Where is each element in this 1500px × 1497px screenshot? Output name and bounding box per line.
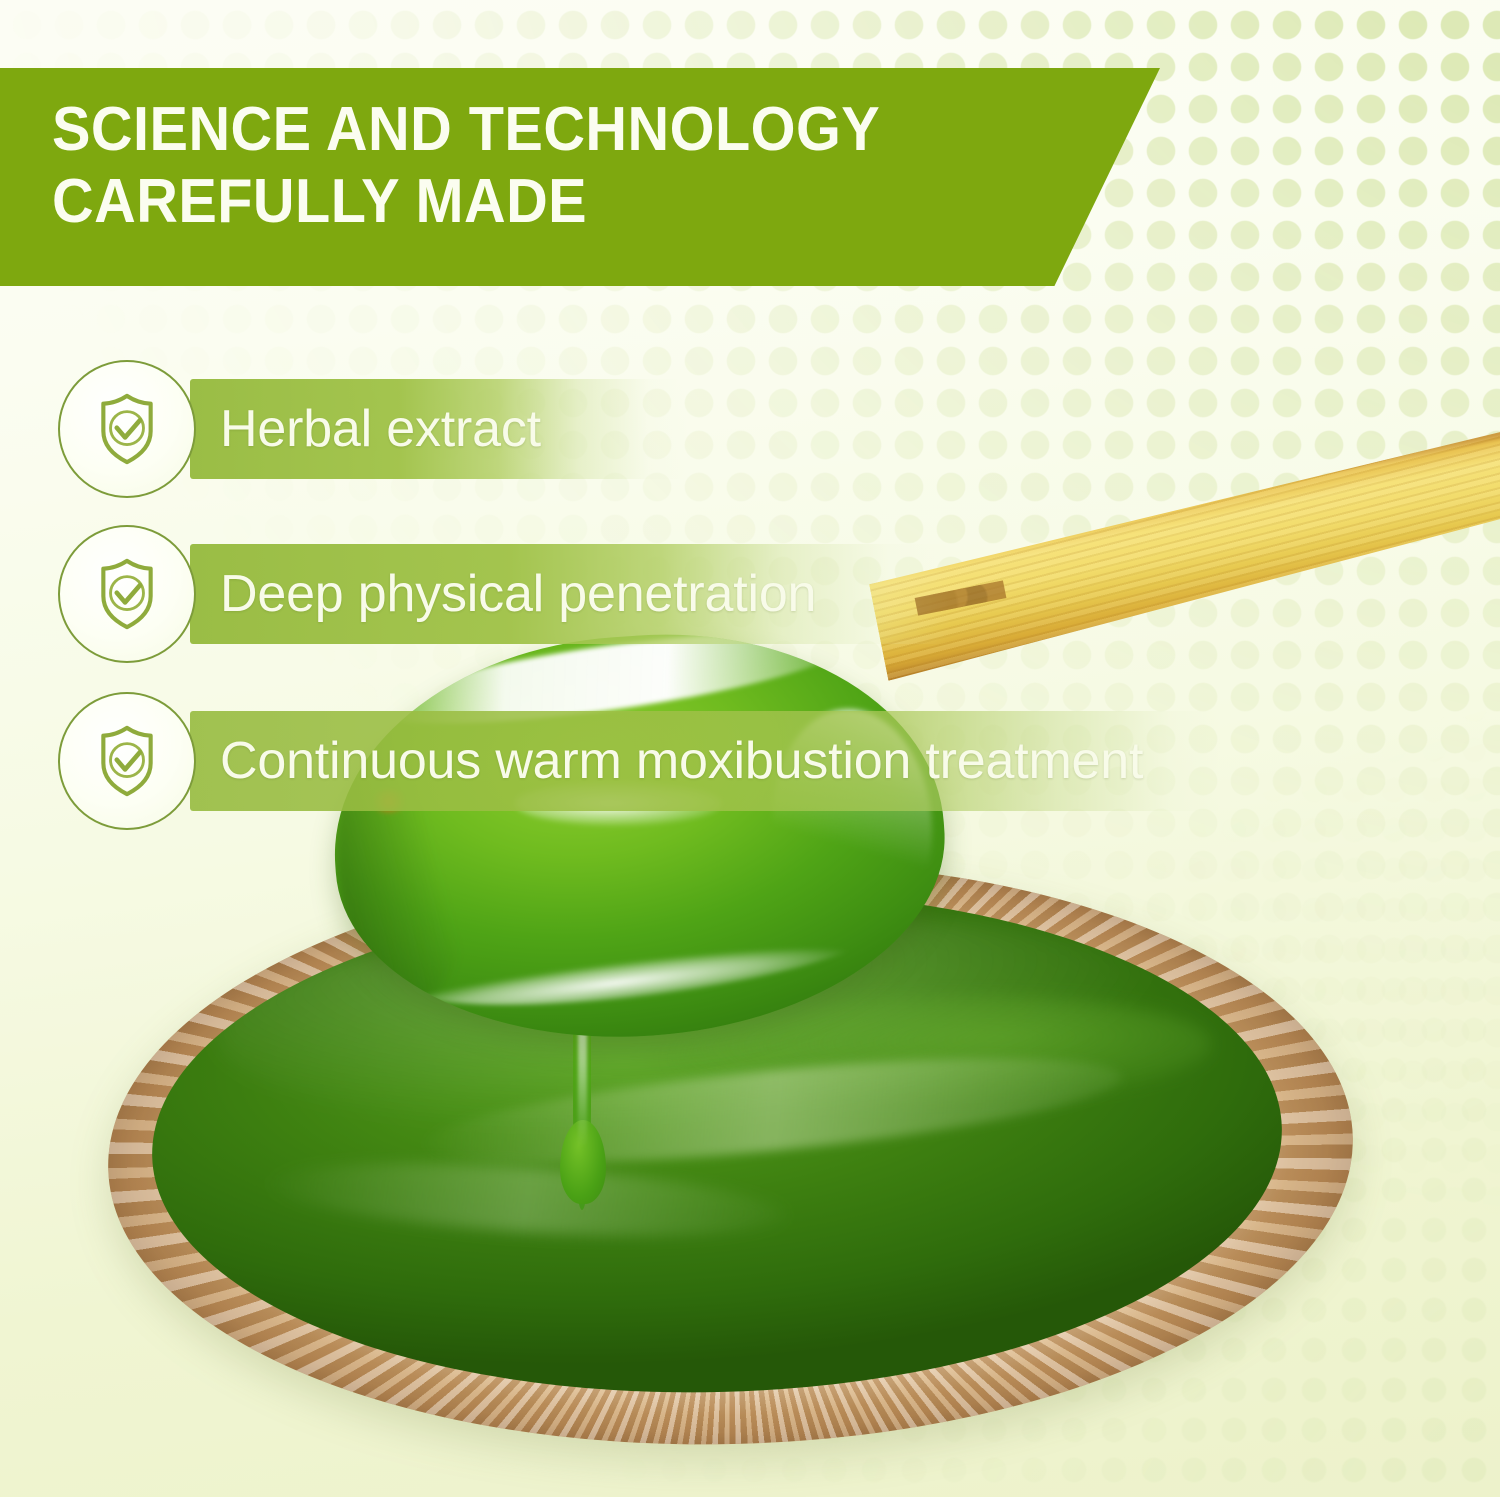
promo-image-canvas: SCIENCE AND TECHNOLOGY CAREFULLY MADE He… bbox=[0, 0, 1500, 1497]
drip-droplet bbox=[560, 1120, 606, 1204]
page-title: SCIENCE AND TECHNOLOGY CAREFULLY MADE bbox=[52, 94, 1019, 238]
wooden-spoon-handle bbox=[864, 420, 1500, 681]
spoon-bowl bbox=[321, 615, 957, 1057]
paste-drip bbox=[560, 1000, 606, 1250]
green-paste-pool bbox=[146, 877, 1289, 1406]
paste-pool-swirl-1 bbox=[420, 1037, 1125, 1184]
paste-pool-swirl-3 bbox=[668, 989, 1213, 1113]
paste-pool-swirl-2 bbox=[265, 1151, 788, 1248]
spoon-bowl-with-paste bbox=[334, 636, 944, 1036]
feature-label: Continuous warm moxibustion treatment bbox=[220, 711, 1143, 811]
drip-stream bbox=[573, 1000, 591, 1210]
shield-check-icon bbox=[58, 360, 196, 498]
dish-rim-texture bbox=[101, 846, 1361, 1460]
shield-check-icon bbox=[58, 692, 196, 830]
paste-pool-gloss bbox=[214, 900, 1191, 1145]
spoon-bottom-rim-highlight bbox=[374, 861, 907, 1028]
header-banner: SCIENCE AND TECHNOLOGY CAREFULLY MADE bbox=[0, 68, 1160, 286]
drip-highlight bbox=[578, 1018, 587, 1148]
feature-label: Herbal extract bbox=[220, 379, 541, 479]
shield-check-icon bbox=[58, 525, 196, 663]
wood-grain-texture bbox=[864, 420, 1500, 681]
feature-label: Deep physical penetration bbox=[220, 544, 816, 644]
ceramic-dish bbox=[101, 846, 1361, 1460]
